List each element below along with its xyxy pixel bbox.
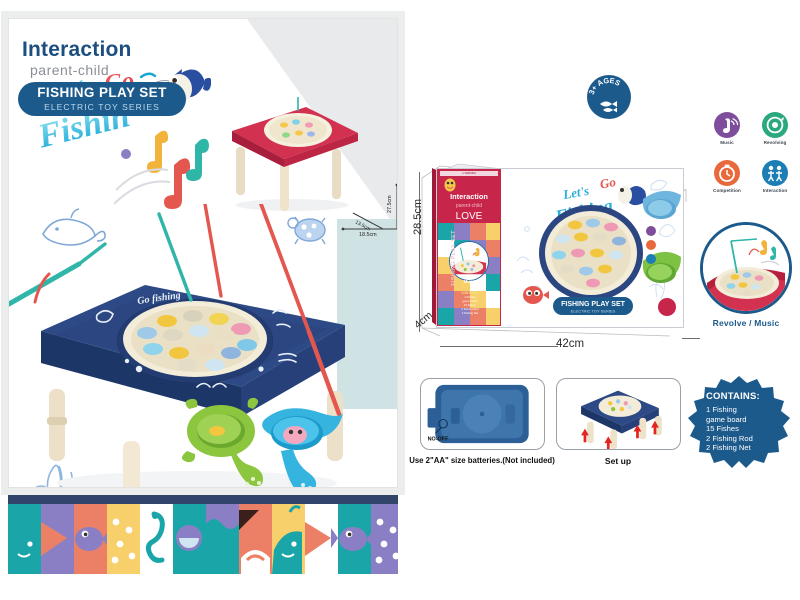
mosaic-tile bbox=[338, 504, 371, 574]
revolve-icon bbox=[762, 112, 788, 138]
decorative-mosaic-strip bbox=[8, 495, 398, 583]
box-banner-main: FISHING PLAY SET bbox=[561, 301, 626, 308]
fishing-nets-photo bbox=[169, 389, 349, 488]
mosaic-tile bbox=[107, 504, 140, 574]
contains-item: 2 Fishing Rod bbox=[706, 434, 792, 443]
turtle-doodle-icon bbox=[284, 209, 332, 249]
red-table-dimensions: 18.5cm 27.5cm 13.5cm bbox=[339, 179, 398, 237]
contains-item: 2 Fishing Net bbox=[706, 443, 792, 452]
product-series: ELECTRIC TOY SERIES bbox=[18, 102, 186, 112]
feature-interaction: Interaction bbox=[753, 160, 797, 193]
box-contains-item: 2 Fishing Net bbox=[451, 311, 489, 315]
dim-width-label: 18.5cm bbox=[359, 232, 377, 237]
revolve-music-callout bbox=[700, 222, 792, 314]
green-turtle-net bbox=[182, 398, 263, 486]
mosaic-grid bbox=[8, 504, 398, 574]
box-left-subtitle: parent-child bbox=[456, 203, 482, 209]
music-note-icon bbox=[714, 112, 740, 138]
box-contains-mini: CONTAINS: 1 Fishinggame board15 Fishes2 … bbox=[451, 291, 489, 319]
battery-panel: NO-OFF Use 2"AA" size batteries.(Not inc… bbox=[420, 378, 557, 465]
page-title: Interaction bbox=[22, 38, 132, 62]
feature-label: Music bbox=[705, 140, 749, 145]
box-banner-sub: ELECTRIC TOY SERIES bbox=[571, 309, 616, 314]
box-pattern-tile bbox=[470, 223, 486, 241]
dim-line-vertical bbox=[419, 172, 420, 332]
mosaic-tile bbox=[371, 504, 398, 574]
box-logo-go: Go bbox=[599, 174, 618, 192]
mosaic-bottom-bar bbox=[8, 574, 398, 583]
contains-item: game board bbox=[706, 415, 792, 424]
whale-doodle-icon bbox=[37, 204, 107, 254]
box-front-panel: Let's Go Fishing bbox=[501, 169, 683, 326]
package-width-label: 42cm bbox=[556, 338, 584, 350]
music-notes-decoration bbox=[114, 124, 224, 239]
product-sheet: Let's Go Fishin bbox=[0, 0, 800, 600]
blue-whale-net bbox=[262, 408, 343, 488]
mosaic-top-bar bbox=[8, 495, 398, 504]
contains-badge: CONTAINS: 1 Fishinggame board15 Fishes2 … bbox=[686, 374, 792, 470]
setup-panel: Set up bbox=[556, 378, 693, 466]
box-contains-list: 1 Fishinggame board15 Fishes2 Fishing Ro… bbox=[451, 295, 489, 315]
contains-item: 15 Fishes bbox=[706, 424, 792, 433]
battery-illustration: NO-OFF bbox=[420, 378, 545, 450]
mosaic-tile bbox=[305, 504, 338, 574]
dim-height-label: 27.5cm bbox=[387, 195, 393, 213]
box-pattern-tile bbox=[486, 223, 500, 241]
mosaic-tile bbox=[272, 504, 305, 574]
mosaic-tile bbox=[239, 504, 272, 574]
box-left-title: Interaction bbox=[450, 192, 488, 201]
package-box-mockup: ⚠ WARNING Interaction parent-child LOVE bbox=[418, 160, 690, 340]
mosaic-tile bbox=[74, 504, 107, 574]
setup-illustration bbox=[556, 378, 681, 450]
feature-label: Competition bbox=[705, 188, 749, 193]
mosaic-tile bbox=[173, 504, 206, 574]
dim-line-horizontal bbox=[440, 346, 558, 347]
box-pattern-tile bbox=[486, 274, 500, 292]
box-front-3d: ⚠ WARNING Interaction parent-child LOVE bbox=[436, 168, 684, 328]
contains-item: 1 Fishing bbox=[706, 405, 792, 414]
mosaic-tile bbox=[206, 504, 239, 574]
mosaic-tile bbox=[140, 504, 173, 574]
box-left-love: LOVE bbox=[456, 211, 483, 222]
contains-heading: CONTAINS: bbox=[706, 391, 792, 402]
box-inset-label: Music bbox=[453, 279, 487, 284]
mosaic-tile bbox=[41, 504, 74, 574]
contains-content: CONTAINS: 1 Fishinggame board15 Fishes2 … bbox=[686, 374, 792, 470]
feature-icons: Music Revolving Competition bbox=[705, 112, 797, 204]
feature-competition: Competition bbox=[705, 160, 749, 193]
feature-revolving: Revolving bbox=[753, 112, 797, 145]
battery-caption: Use 2"AA" size batteries.(Not included) bbox=[407, 456, 557, 465]
two-people-icon bbox=[762, 160, 788, 186]
box-left-panel: ⚠ WARNING Interaction parent-child LOVE bbox=[437, 169, 501, 326]
product-name-pill: FISHING PLAY SET ELECTRIC TOY SERIES bbox=[18, 82, 186, 116]
feature-label: Revolving bbox=[753, 140, 797, 145]
revolve-callout-label: Revolve / Music bbox=[690, 318, 800, 328]
revolve-circle bbox=[700, 222, 792, 314]
package-height-label: 28.5cm bbox=[412, 199, 424, 235]
product-name: FISHING PLAY SET bbox=[18, 86, 186, 100]
battery-switch-label: NO-OFF bbox=[428, 436, 450, 442]
contains-items: 1 Fishinggame board15 Fishes2 Fishing Ro… bbox=[706, 405, 792, 452]
box-spine-text: FISHING PLAY SET bbox=[451, 223, 457, 293]
mosaic-tile bbox=[8, 504, 41, 574]
stopwatch-icon bbox=[714, 160, 740, 186]
age-badge: 3+ AGES bbox=[586, 74, 632, 120]
feature-label: Interaction bbox=[753, 188, 797, 193]
page-subtitle: parent-child bbox=[30, 62, 109, 78]
callout-leader-line bbox=[682, 338, 700, 339]
setup-caption: Set up bbox=[543, 456, 693, 466]
feature-music: Music bbox=[705, 112, 749, 145]
